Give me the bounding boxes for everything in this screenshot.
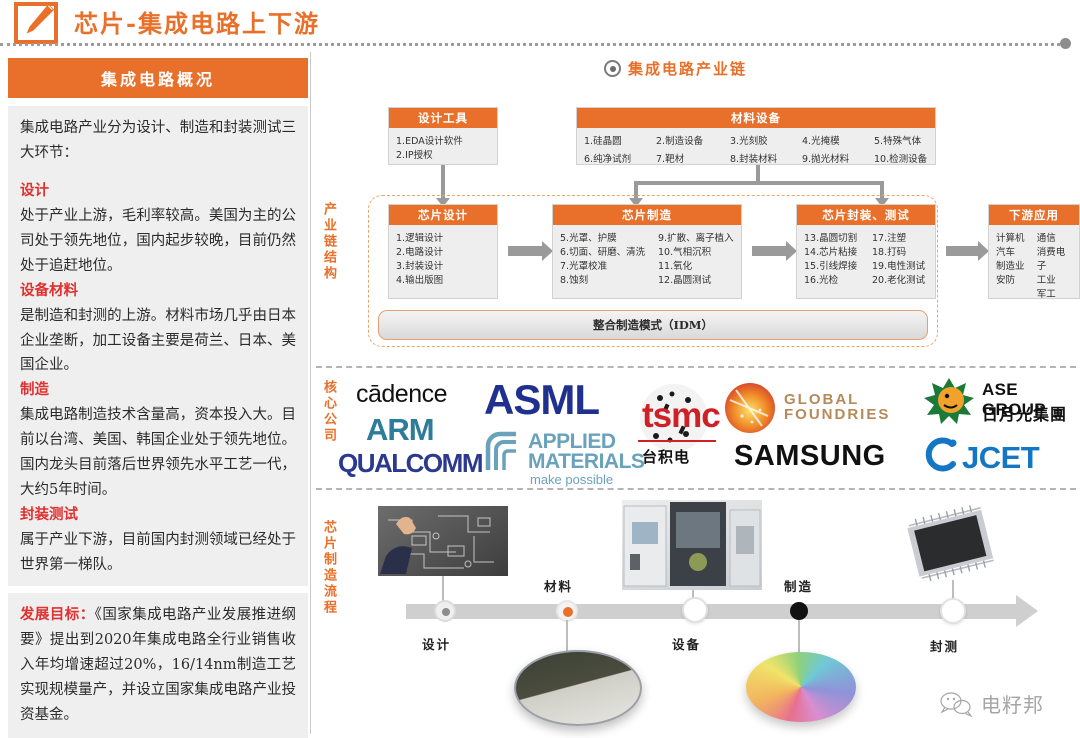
list-item: 8.封装材料 (730, 151, 802, 165)
wechat-icon (939, 691, 973, 717)
list-item: 10.气相沉积 (658, 244, 734, 258)
chip-package-icon (896, 502, 1006, 582)
applied-materials-mark-icon (482, 430, 524, 476)
list-item: 9.扩散、离子植入 (658, 230, 734, 244)
box-materials: 材料设备 1.硅晶圆 2.制造设备 3.光刻胶 4.光掩模 5.特殊气体 6.纯… (576, 107, 936, 165)
box-chip-design-header: 芯片设计 (389, 205, 497, 225)
jcet-swoosh-icon (920, 436, 960, 474)
box-chip-package-test-body: 13.晶圆切割 14.芯片粘接 15.引线焊接 16.光检 17.注塑 18.打… (797, 225, 935, 291)
timeline-stem-manufacture (798, 620, 800, 656)
globalfoundries-line2: FOUNDRIES (784, 407, 890, 422)
timeline-label-packaging: 封测 (930, 636, 959, 655)
list-item: 4.光掩模 (802, 133, 874, 147)
sidebar-goal-text: 《国家集成电路产业发展推进纲要》提出到2020年集成电路全行业销售收入年均增速超… (20, 607, 296, 723)
column-right: 通信 消费电子 工业 军工 (1037, 230, 1072, 300)
arm-logo: ARM (366, 412, 434, 448)
list-item: 17.注塑 (872, 230, 925, 244)
tsmc-logo: tsmc (642, 396, 720, 436)
timeline-label-equipment: 设备 (672, 634, 701, 653)
applied-materials-line1: APPLIED (528, 432, 616, 452)
sidebar-text-design: 处于产业上游，毛利率较高。美国为主的公司处于领先地位，国内起步较晚，目前仍然处于… (20, 204, 296, 279)
timeline-node-packaging[interactable] (940, 598, 966, 624)
list-item: 安防 (996, 272, 1037, 286)
page-header: 芯片-集成电路上下游 (0, 0, 1080, 48)
timeline-vertical-label: 芯片制造流程 (320, 520, 335, 616)
semiconductor-equipment-icon (622, 500, 762, 590)
box-chip-package-test: 芯片封装、测试 13.晶圆切割 14.芯片粘接 15.引线焊接 16.光检 17… (796, 204, 936, 299)
sidebar-text-equipment: 是制造和封测的上游。材料市场几乎由日本企业垄断，加工设备主要是荷兰、日本、美国企… (20, 304, 296, 379)
sidebar-body: 集成电路产业分为设计、制造和封装测试三大环节： 设计 处于产业上游，毛利率较高。… (8, 106, 308, 586)
applied-materials-tagline: make possible (530, 472, 613, 487)
box-design-tools: 设计工具 1.EDA设计软件 2.IP授权 (388, 107, 498, 165)
box-chip-manufacture: 芯片制造 5.光罩、护膜 6.切面、研磨、清洗 7.光罩校准 8.蚀刻 9.扩散… (552, 204, 742, 299)
column-right: 17.注塑 18.打码 19.电性测试 20.老化测试 (872, 230, 925, 286)
idm-bar: 整合制造模式（IDM） (378, 310, 928, 340)
companies-vertical-label: 核心公司 (320, 380, 335, 444)
list-item: 消费电子 (1037, 244, 1072, 272)
box-chip-manufacture-body: 5.光罩、护膜 6.切面、研磨、清洗 7.光罩校准 8.蚀刻 9.扩散、离子植入… (553, 225, 741, 291)
arrow-design-to-manufacture (508, 246, 542, 256)
list-item: 7.靶材 (656, 151, 730, 165)
circuit-sketch-icon (378, 506, 508, 576)
list-item: 1.硅晶圆 (584, 133, 656, 147)
list-item: 计算机 (996, 230, 1037, 244)
box-downstream-header: 下游应用 (989, 205, 1079, 225)
arrow-package-to-downstream (946, 246, 978, 256)
samsung-logo: SAMSUNG (734, 440, 886, 473)
sidebar-intro: 集成电路产业分为设计、制造和封装测试三大环节： (20, 116, 296, 166)
node-dot (563, 607, 573, 617)
list-item: 18.打码 (872, 244, 925, 258)
arrow-manufacture-to-package (752, 246, 786, 256)
column-right: 9.扩散、离子植入 10.气相沉积 11.氧化 12.晶圆测试 (658, 230, 734, 286)
thumb-manufacture-colored-wafer (746, 652, 856, 722)
table-row: 1.硅晶圆 2.制造设备 3.光刻胶 4.光掩模 5.特殊气体 (584, 133, 928, 147)
manufacturing-flow-section: 芯片制造流程 设计 材料 (316, 492, 1080, 734)
qualcomm-logo: QUALCOMM (338, 448, 482, 479)
list-item: 16.光检 (804, 272, 872, 286)
list-item: 制造业 (996, 258, 1037, 272)
industry-chain-section: 集成电路产业链 产业链结构 设计工具 1.EDA设计软件 2.IP授权 材料设备… (316, 52, 1080, 364)
list-item: 15.引线焊接 (804, 258, 872, 272)
applied-materials-line2: MATERIALS (528, 452, 644, 472)
list-item: 军工 (1037, 286, 1072, 300)
cadence-logo: cādence (356, 380, 447, 409)
list-item: 6.纯净试剂 (584, 151, 656, 165)
thumb-design-engineer-circuit (378, 506, 508, 576)
list-item: 19.电性测试 (872, 258, 925, 272)
list-item: 8.蚀刻 (560, 272, 658, 286)
box-chip-design: 芯片设计 1.逻辑设计 2.电路设计 3.封装设计 4.输出版图 (388, 204, 498, 299)
header-divider (0, 43, 1060, 46)
thumb-equipment-asml-machine (622, 500, 762, 590)
timeline-label-material: 材料 (544, 576, 573, 595)
list-item: 2.电路设计 (396, 244, 490, 258)
list-item: 6.切面、研磨、清洗 (560, 244, 658, 258)
page-title: 芯片-集成电路上下游 (74, 4, 320, 39)
list-item: 9.抛光材料 (802, 151, 874, 165)
sidebar-heading-manufacture: 制造 (20, 378, 296, 403)
sidebar-goal-box: 发展目标：《国家集成电路产业发展推进纲要》提出到2020年集成电路全行业销售收入… (8, 593, 308, 738)
jcet-logo: JCET (962, 440, 1039, 476)
asml-logo: ASML (484, 376, 599, 424)
sidebar-banner: 集成电路概况 (8, 58, 308, 98)
table-row: 6.纯净试剂 7.靶材 8.封装材料 9.抛光材料 10.检测设备 (584, 151, 928, 165)
sidebar: 集成电路概况 集成电路产业分为设计、制造和封装测试三大环节： 设计 处于产业上游… (8, 58, 308, 738)
watermark-text: 电籽邦 (981, 689, 1044, 718)
list-item: 2.制造设备 (656, 133, 730, 147)
list-item: 20.老化测试 (872, 272, 925, 286)
chain-vertical-label: 产业链结构 (320, 202, 335, 282)
core-companies-section: 核心公司 cādence ARM QUALCOMM ASML APPLIED M… (316, 368, 1080, 486)
timeline-node-material[interactable] (556, 600, 578, 622)
timeline-node-design[interactable] (434, 600, 456, 622)
tsmc-underline (638, 440, 716, 442)
box-design-tools-header: 设计工具 (389, 108, 497, 128)
list-item: 10.检测设备 (874, 151, 927, 165)
column-left: 计算机 汽车 制造业 安防 (996, 230, 1037, 300)
list-item: 4.输出版图 (396, 272, 490, 286)
box-downstream-application: 下游应用 计算机 汽车 制造业 安防 通信 消费电子 工业 军工 (988, 204, 1080, 299)
tsmc-logo-cn: 台积电 (642, 446, 690, 467)
box-materials-body: 1.硅晶圆 2.制造设备 3.光刻胶 4.光掩模 5.特殊气体 6.纯净试剂 7… (577, 128, 935, 170)
sidebar-heading-equipment: 设备材料 (20, 279, 296, 304)
sidebar-goal-label: 发展目标： (20, 606, 95, 623)
timeline-node-manufacture[interactable] (790, 602, 808, 620)
globalfoundries-line1: GLOBAL (784, 392, 859, 407)
list-item: 12.晶圆测试 (658, 272, 734, 286)
column-left: 13.晶圆切割 14.芯片粘接 15.引线焊接 16.光检 (804, 230, 872, 286)
box-design-tools-body: 1.EDA设计软件 2.IP授权 (389, 128, 497, 166)
list-item: 13.晶圆切割 (804, 230, 872, 244)
list-item: 3.光刻胶 (730, 133, 802, 147)
sidebar-text-manufacture: 集成电路制造技术含量高，资本投入大。目前以台湾、美国、韩国企业处于领先地位。国内… (20, 403, 296, 503)
list-item: 3.封装设计 (396, 258, 490, 272)
list-item: 1.逻辑设计 (396, 230, 490, 244)
spacer (20, 166, 296, 179)
list-item: 工业 (1037, 272, 1072, 286)
list-item: 2.IP授权 (396, 147, 490, 161)
industry-chain-title: 集成电路产业链 (628, 58, 747, 79)
timeline-node-equipment[interactable] (682, 597, 708, 623)
arrow-design-tools-to-chip-design (441, 165, 445, 198)
list-item: 1.EDA设计软件 (396, 133, 490, 147)
list-item: 通信 (1037, 230, 1072, 244)
header-divider-end-dot (1060, 38, 1071, 49)
thumb-packaging-chip (896, 502, 1006, 582)
sidebar-text-packaging: 属于产业下游，目前国内封测领域已经处于世界第一梯队。 (20, 528, 296, 578)
sidebar-heading-design: 设计 (20, 179, 296, 204)
node-dot (442, 608, 450, 616)
list-item: 14.芯片粘接 (804, 244, 872, 258)
timeline-axis-arrow (406, 604, 1016, 619)
list-item: 7.光罩校准 (560, 258, 658, 272)
box-chip-manufacture-header: 芯片制造 (553, 205, 741, 225)
ase-group-mark-icon (922, 376, 976, 424)
watermark: 电籽邦 (939, 689, 1044, 718)
box-chip-design-body: 1.逻辑设计 2.电路设计 3.封装设计 4.输出版图 (389, 225, 497, 291)
list-item: 5.特殊气体 (874, 133, 921, 147)
ase-group-logo-cn: 日月光集團 (982, 401, 1067, 425)
globalfoundries-mark-icon (722, 380, 778, 434)
pencil-glyph (20, 4, 58, 42)
list-item: 5.光罩、护膜 (560, 230, 658, 244)
box-materials-header: 材料设备 (577, 108, 935, 128)
list-item: 汽车 (996, 244, 1037, 258)
list-item: 11.氧化 (658, 258, 734, 272)
column-left: 5.光罩、护膜 6.切面、研磨、清洗 7.光罩校准 8.蚀刻 (560, 230, 658, 286)
arrow-materials-branch (636, 181, 884, 185)
box-chip-package-test-header: 芯片封装、测试 (797, 205, 935, 225)
sidebar-heading-packaging: 封装测试 (20, 503, 296, 528)
timeline-label-design: 设计 (422, 634, 451, 653)
content-divider (310, 52, 311, 734)
pencil-edit-icon (14, 2, 58, 44)
thumb-material-silicon-wafer (514, 650, 642, 726)
box-downstream-body: 计算机 汽车 制造业 安防 通信 消费电子 工业 军工 (989, 225, 1079, 305)
timeline-label-manufacture: 制造 (784, 576, 813, 595)
target-dot-icon (604, 60, 621, 77)
section-divider-2 (316, 488, 1076, 490)
